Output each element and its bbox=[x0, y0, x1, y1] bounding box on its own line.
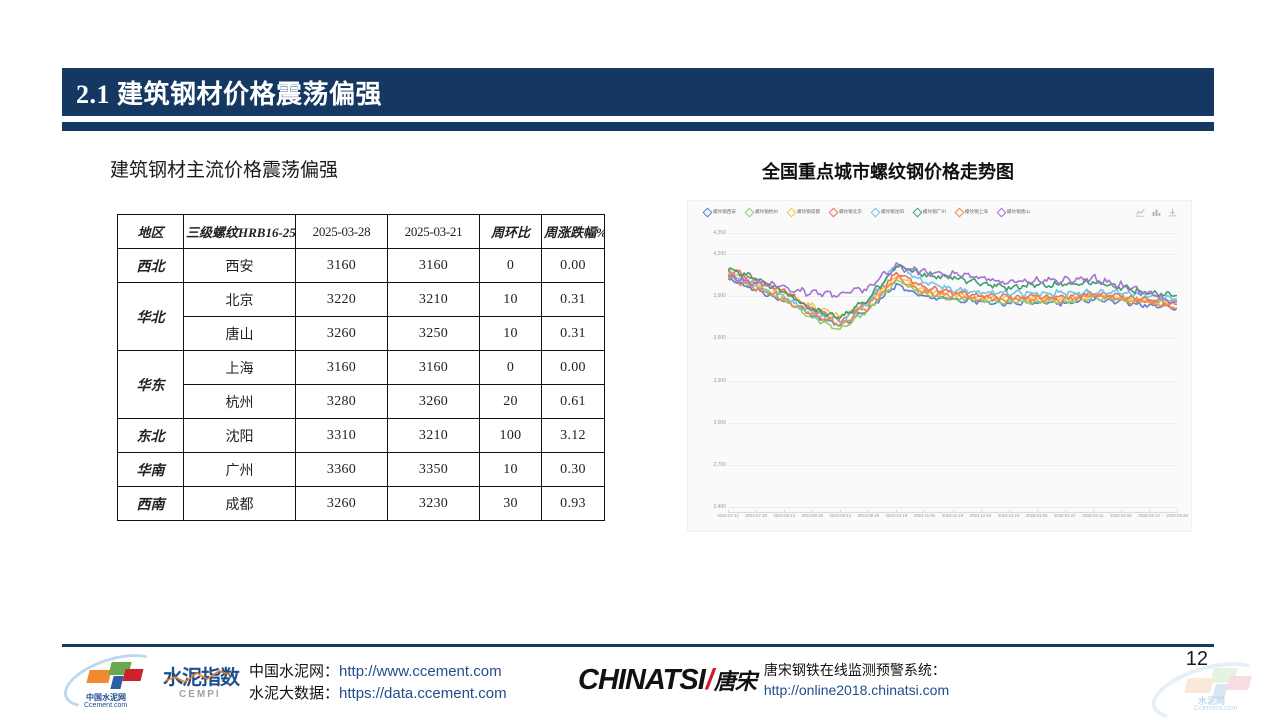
cell-week-change: 0 bbox=[480, 351, 542, 385]
legend-label: 螺纹钢广州 bbox=[923, 210, 946, 215]
chart-toolbar[interactable] bbox=[1136, 208, 1177, 217]
y-axis-tick-label: 3,900 bbox=[713, 293, 726, 299]
x-axis-tick bbox=[1093, 510, 1094, 513]
table-row: 唐山 3260 3250 10 0.31 bbox=[118, 317, 605, 351]
table-row: 华东 上海 3160 3160 0 0.00 bbox=[118, 351, 605, 385]
table-body: 西北 西安 3160 3160 0 0.00 华北 北京 3220 3210 1… bbox=[118, 249, 605, 521]
legend-marker-icon bbox=[829, 208, 839, 218]
col-header-week-change: 周环比 bbox=[480, 215, 542, 249]
x-axis-tick bbox=[924, 510, 925, 513]
chinatsi-logo-icon: CHINATSI/唐宋 bbox=[578, 664, 756, 697]
x-axis-tick bbox=[953, 510, 954, 513]
rebar-price-table: 地区 三级螺纹HRB16-25 2025-03-28 2025-03-21 周环… bbox=[117, 214, 605, 521]
chart-x-axis-labels: 2024-07-122024-07-292024-08-132024-08-30… bbox=[728, 513, 1177, 525]
ccement-logo-icon: 中国水泥网 Ccement.com bbox=[62, 652, 157, 714]
header-underline bbox=[62, 122, 1214, 131]
cempi-logo-icon: 水泥指数 CEMPI bbox=[163, 657, 237, 709]
legend-marker-icon bbox=[912, 208, 922, 218]
x-axis-tick bbox=[1149, 510, 1150, 513]
cell-week-pct: 0.31 bbox=[542, 317, 605, 351]
chart-series-group bbox=[728, 233, 1177, 356]
cell-price-current: 3360 bbox=[296, 453, 388, 487]
ccement-site-url[interactable]: http://www.ccement.com bbox=[339, 663, 502, 680]
col-header-grade: 三级螺纹HRB16-25 bbox=[184, 215, 296, 249]
slide-root: 2.1 建筑钢材价格震荡偏强 建筑钢材主流价格震荡偏强 地区 三级螺纹HRB16… bbox=[0, 0, 1280, 720]
ccement-links: 中国水泥网：http://www.ccement.com 水泥大数据：https… bbox=[249, 661, 507, 705]
cell-price-current: 3260 bbox=[296, 487, 388, 521]
y-axis-tick-label: 3,300 bbox=[713, 378, 726, 384]
cell-price-current: 3160 bbox=[296, 249, 388, 283]
cell-price-current: 3220 bbox=[296, 283, 388, 317]
cell-price-current: 3310 bbox=[296, 419, 388, 453]
cell-city: 杭州 bbox=[184, 385, 296, 419]
gridline bbox=[728, 381, 1177, 382]
cell-city: 成都 bbox=[184, 487, 296, 521]
ccement-site-label: 中国水泥网： bbox=[249, 663, 339, 680]
x-axis-tick-label: 2025-01-06 bbox=[1026, 513, 1047, 518]
ccement-data-label: 水泥大数据： bbox=[249, 685, 339, 702]
cell-week-change: 10 bbox=[480, 283, 542, 317]
chinatsi-logo-en: CHINATSI bbox=[578, 664, 705, 696]
legend-label: 螺纹钢沈阳 bbox=[881, 210, 904, 215]
x-axis-tick bbox=[840, 510, 841, 513]
legend-marker-icon bbox=[996, 208, 1006, 218]
chinatsi-links: 唐宋钢铁在线监测预警系统： http://online2018.chinatsi… bbox=[764, 660, 949, 701]
col-header-date-previous: 2025-03-21 bbox=[388, 215, 480, 249]
cell-region: 东北 bbox=[118, 419, 184, 453]
cell-city: 广州 bbox=[184, 453, 296, 487]
cell-week-pct: 0.93 bbox=[542, 487, 605, 521]
cell-region: 西南 bbox=[118, 487, 184, 521]
x-axis-tick-label: 2024-11-19 bbox=[942, 513, 963, 518]
x-axis-tick-label: 2025-03-28 bbox=[1166, 513, 1187, 518]
legend-marker-icon bbox=[787, 208, 797, 218]
cell-region: 华东 bbox=[118, 351, 184, 419]
table-row: 华南 广州 3360 3350 10 0.30 bbox=[118, 453, 605, 487]
cell-week-change: 30 bbox=[480, 487, 542, 521]
cell-price-previous: 3260 bbox=[388, 385, 480, 419]
cell-price-current: 3260 bbox=[296, 317, 388, 351]
x-axis-tick-label: 2024-08-13 bbox=[773, 513, 794, 518]
legend-item[interactable]: 螺纹钢广州 bbox=[914, 209, 946, 216]
slide-header-bar: 2.1 建筑钢材价格震荡偏强 bbox=[62, 68, 1214, 116]
x-axis-tick-label: 2024-12-04 bbox=[970, 513, 991, 518]
cell-week-pct: 0.00 bbox=[542, 249, 605, 283]
legend-item[interactable]: 螺纹钢成都 bbox=[788, 209, 820, 216]
footer-divider bbox=[62, 644, 1214, 647]
legend-label: 螺纹钢杭州 bbox=[755, 210, 778, 215]
cell-city: 北京 bbox=[184, 283, 296, 317]
cell-week-pct: 0.61 bbox=[542, 385, 605, 419]
cell-region: 华北 bbox=[118, 283, 184, 351]
y-axis-tick-label: 4,200 bbox=[713, 251, 726, 257]
cell-price-previous: 3230 bbox=[388, 487, 480, 521]
cell-city: 上海 bbox=[184, 351, 296, 385]
cell-week-pct: 3.12 bbox=[542, 419, 605, 453]
x-axis-tick bbox=[784, 510, 785, 513]
x-axis-tick bbox=[1009, 510, 1010, 513]
watermark-logo-en: Ccement.com bbox=[1194, 705, 1237, 712]
legend-label: 螺纹钢唐山 bbox=[1007, 210, 1030, 215]
gridline bbox=[728, 507, 1177, 508]
legend-label: 螺纹钢上海 bbox=[965, 210, 988, 215]
footer-left-block: 中国水泥网 Ccement.com 水泥指数 CEMPI 中国水泥网：http:… bbox=[62, 652, 507, 714]
col-header-region: 地区 bbox=[118, 215, 184, 249]
page-title: 2.1 建筑钢材价格震荡偏强 bbox=[62, 74, 382, 111]
ccement-link-line-2: 水泥大数据：https://data.ccement.com bbox=[249, 683, 507, 705]
cell-price-previous: 3210 bbox=[388, 283, 480, 317]
x-axis-tick bbox=[1121, 510, 1122, 513]
x-axis-tick bbox=[896, 510, 897, 513]
cell-price-previous: 3210 bbox=[388, 419, 480, 453]
table-row: 华北 北京 3220 3210 10 0.31 bbox=[118, 283, 605, 317]
y-axis-tick-label: 2,400 bbox=[713, 504, 726, 510]
cempi-logo-en: CEMPI bbox=[179, 689, 221, 700]
table-row: 东北 沈阳 3310 3210 100 3.12 bbox=[118, 419, 605, 453]
ccement-logo-en: Ccement.com bbox=[84, 702, 127, 709]
price-trend-chart: 螺纹钢西安螺纹钢杭州螺纹钢成都螺纹钢北京螺纹钢沈阳螺纹钢广州螺纹钢上海螺纹钢唐山… bbox=[687, 200, 1192, 532]
cempi-curve-icon bbox=[165, 669, 231, 685]
col-header-week-pct: 周涨跌幅% bbox=[542, 215, 605, 249]
left-caption: 建筑钢材主流价格震荡偏强 bbox=[110, 155, 338, 182]
chinatsi-logo-cn: 唐宋 bbox=[714, 669, 756, 694]
cell-region: 华南 bbox=[118, 453, 184, 487]
legend-label: 螺纹钢成都 bbox=[797, 210, 820, 215]
download-icon[interactable] bbox=[1168, 208, 1177, 217]
x-axis-tick bbox=[981, 510, 982, 513]
cell-week-pct: 0.30 bbox=[542, 453, 605, 487]
cell-week-change: 100 bbox=[480, 419, 542, 453]
chart-legend[interactable]: 螺纹钢西安螺纹钢杭州螺纹钢成都螺纹钢北京螺纹钢沈阳螺纹钢广州螺纹钢上海螺纹钢唐山 bbox=[704, 209, 1030, 216]
cell-price-current: 3280 bbox=[296, 385, 388, 419]
ccement-data-url[interactable]: https://data.ccement.com bbox=[339, 685, 507, 702]
x-axis-tick bbox=[1177, 510, 1178, 513]
col-header-date-current: 2025-03-28 bbox=[296, 215, 388, 249]
cell-region: 西北 bbox=[118, 249, 184, 283]
x-axis-tick bbox=[1065, 510, 1066, 513]
footer-mid-block: CHINATSI/唐宋 唐宋钢铁在线监测预警系统： http://online2… bbox=[578, 660, 949, 701]
cell-week-change: 20 bbox=[480, 385, 542, 419]
x-axis-tick-label: 2024-09-29 bbox=[858, 513, 879, 518]
x-axis-tick-label: 2025-01-21 bbox=[1054, 513, 1075, 518]
x-axis-tick-label: 2024-07-29 bbox=[745, 513, 766, 518]
legend-item[interactable]: 螺纹钢唐山 bbox=[998, 209, 1030, 216]
cell-city: 沈阳 bbox=[184, 419, 296, 453]
legend-label: 螺纹钢西安 bbox=[713, 210, 736, 215]
watermark-logo-icon: 水泥网 Ccement.com bbox=[1146, 656, 1266, 718]
x-axis-tick-label: 2025-03-13 bbox=[1138, 513, 1159, 518]
cell-city: 唐山 bbox=[184, 317, 296, 351]
legend-item[interactable]: 螺纹钢杭州 bbox=[746, 209, 778, 216]
gridline bbox=[728, 423, 1177, 424]
table-row: 杭州 3280 3260 20 0.61 bbox=[118, 385, 605, 419]
chart-y-axis-labels: 4,3504,2003,9003,6003,3003,0002,7002,400 bbox=[696, 233, 726, 507]
cell-price-previous: 3160 bbox=[388, 351, 480, 385]
bar-chart-icon[interactable] bbox=[1152, 208, 1161, 217]
x-axis-tick-label: 2025-02-26 bbox=[1110, 513, 1131, 518]
y-axis-tick-label: 3,600 bbox=[713, 335, 726, 341]
table-header-row: 地区 三级螺纹HRB16-25 2025-03-28 2025-03-21 周环… bbox=[118, 215, 605, 249]
x-axis-tick-label: 2024-07-12 bbox=[717, 513, 738, 518]
x-axis-tick-label: 2024-12-19 bbox=[998, 513, 1019, 518]
chart-caption: 全国重点城市螺纹钢价格走势图 bbox=[762, 158, 1014, 184]
gridline bbox=[728, 465, 1177, 466]
cell-price-previous: 3160 bbox=[388, 249, 480, 283]
chinatsi-system-url[interactable]: http://online2018.chinatsi.com bbox=[764, 680, 949, 700]
legend-item[interactable]: 螺纹钢上海 bbox=[956, 209, 988, 216]
x-axis-tick-label: 2024-08-30 bbox=[801, 513, 822, 518]
x-axis-tick bbox=[868, 510, 869, 513]
legend-marker-icon bbox=[954, 208, 964, 218]
cell-city: 西安 bbox=[184, 249, 296, 283]
table-row: 西北 西安 3160 3160 0 0.00 bbox=[118, 249, 605, 283]
cell-price-current: 3160 bbox=[296, 351, 388, 385]
chart-plot-area bbox=[728, 233, 1177, 507]
x-axis-tick-label: 2024-10-18 bbox=[886, 513, 907, 518]
x-axis-tick bbox=[728, 510, 729, 513]
y-axis-tick-label: 3,000 bbox=[713, 420, 726, 426]
cell-price-previous: 3350 bbox=[388, 453, 480, 487]
x-axis-tick bbox=[812, 510, 813, 513]
legend-item[interactable]: 螺纹钢沈阳 bbox=[872, 209, 904, 216]
chinatsi-system-label: 唐宋钢铁在线监测预警系统： bbox=[764, 660, 949, 680]
cell-week-change: 10 bbox=[480, 317, 542, 351]
x-axis-tick-label: 2024-11-04 bbox=[914, 513, 935, 518]
legend-item[interactable]: 螺纹钢西安 bbox=[704, 209, 736, 216]
legend-label: 螺纹钢北京 bbox=[839, 210, 862, 215]
line-chart-icon[interactable] bbox=[1136, 208, 1145, 217]
legend-marker-icon bbox=[870, 208, 880, 218]
cell-week-change: 0 bbox=[480, 249, 542, 283]
cell-price-previous: 3250 bbox=[388, 317, 480, 351]
cell-week-pct: 0.00 bbox=[542, 351, 605, 385]
legend-item[interactable]: 螺纹钢北京 bbox=[830, 209, 862, 216]
x-axis-tick bbox=[756, 510, 757, 513]
x-axis-tick-label: 2024-09-12 bbox=[830, 513, 851, 518]
legend-marker-icon bbox=[703, 208, 713, 218]
ccement-link-line-1: 中国水泥网：http://www.ccement.com bbox=[249, 661, 507, 683]
x-axis-tick-label: 2025-02-11 bbox=[1082, 513, 1103, 518]
legend-marker-icon bbox=[745, 208, 755, 218]
y-axis-tick-label: 4,350 bbox=[713, 230, 726, 236]
cell-week-pct: 0.31 bbox=[542, 283, 605, 317]
table-row: 西南 成都 3260 3230 30 0.93 bbox=[118, 487, 605, 521]
y-axis-tick-label: 2,700 bbox=[713, 462, 726, 468]
cell-week-change: 10 bbox=[480, 453, 542, 487]
x-axis-tick bbox=[1037, 510, 1038, 513]
